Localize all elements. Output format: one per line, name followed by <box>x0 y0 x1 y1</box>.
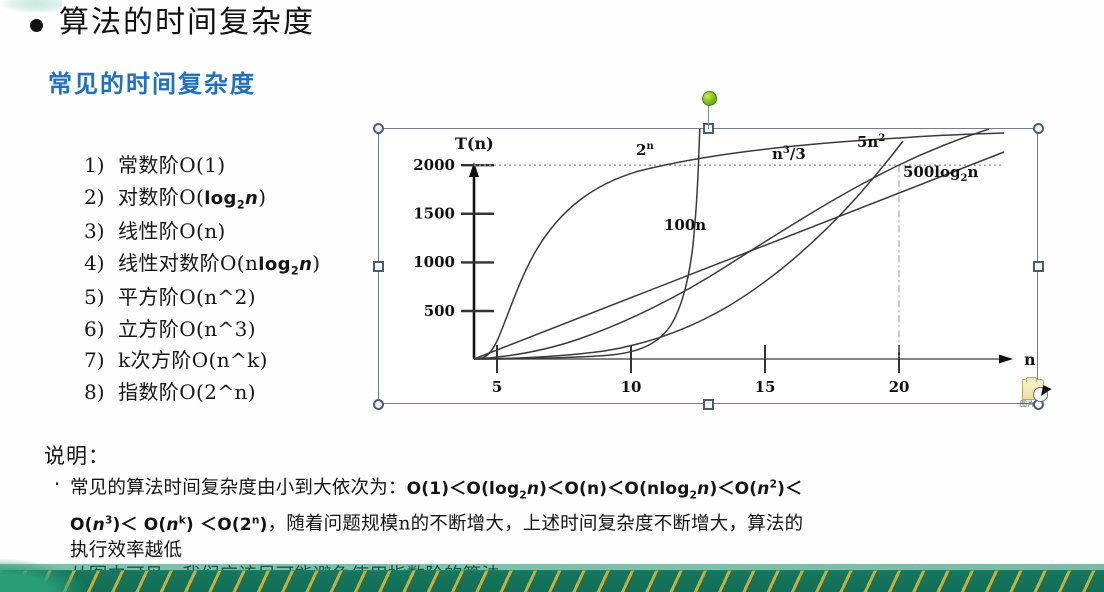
list-item-number: 4) <box>84 250 118 277</box>
list-item-label: k次方阶O(n^k) <box>118 347 268 374</box>
section-subtitle: 常见的时间复杂度 <box>48 64 256 99</box>
list-item-number: 8) <box>84 379 118 406</box>
list-item-label: 常数阶O(1) <box>118 152 226 179</box>
toolbar-stem <box>1037 369 1038 379</box>
note-item: ·常见的算法时间复杂度由小到大依次为：O(1)＜O(log2n)＜O(n)＜O(… <box>44 472 1074 563</box>
chart-y-tick-labels: 2000 1500 1000 500 <box>413 156 455 320</box>
toolbar-caption: 图片 <box>1020 399 1035 409</box>
complexity-list-item: 3)线性阶O(n) <box>84 218 414 245</box>
page-title: 算法的时间复杂度 <box>59 6 315 39</box>
resize-handle-middle-right[interactable] <box>1033 261 1044 272</box>
curve-n3div3 <box>474 141 903 359</box>
svg-text:2000: 2000 <box>413 156 455 174</box>
picture-toolbar-stub[interactable]: 图片 <box>1020 378 1054 408</box>
rotation-handle-stem <box>708 103 709 129</box>
svg-text:10: 10 <box>621 378 642 396</box>
resize-handle-top-left[interactable] <box>373 123 384 134</box>
rotation-handle[interactable] <box>702 91 717 106</box>
complexity-list-item: 5)平方阶O(n^2) <box>84 284 414 311</box>
complexity-list-item: 7)k次方阶O(n^k) <box>84 347 414 374</box>
svg-text:5: 5 <box>492 378 502 396</box>
chart-annotations: 2n 100n n3/3 5n2 500log2n <box>636 133 978 234</box>
footer-left-swoosh <box>0 558 90 592</box>
svg-text:15: 15 <box>755 378 776 396</box>
chart-axes <box>469 162 1013 364</box>
annotation-100n: 100n <box>664 216 706 234</box>
list-item-number: 3) <box>84 218 118 245</box>
svg-text:500: 500 <box>424 302 455 320</box>
list-item-number: 1) <box>84 152 118 179</box>
list-item-label: 对数阶O(log2n) <box>118 184 266 213</box>
annotation-n3div3: n3/3 <box>772 145 806 163</box>
list-item-label: 平方阶O(n^2) <box>118 284 256 311</box>
complexity-list-item: 8)指数阶O(2^n) <box>84 379 414 406</box>
bullet-dot-icon <box>30 19 43 32</box>
resize-handle-middle-left[interactable] <box>373 261 384 272</box>
footer-decoration-bar <box>0 570 1104 592</box>
mouse-pointer-icon <box>1041 385 1052 398</box>
list-item-label: 线性对数阶O(nlog2n) <box>118 250 321 279</box>
slide-title-row: 算法的时间复杂度 <box>30 6 315 39</box>
notes-heading: 说明： <box>44 440 1074 470</box>
complexity-list: 1)常数阶O(1)2)对数阶O(log2n)3)线性阶O(n)4)线性对数阶O(… <box>44 152 414 410</box>
chart-ylabel: T(n) <box>455 134 494 153</box>
chart-svg: 2000 1500 1000 500 5 10 15 20 T(n) n 2n <box>379 129 1039 405</box>
list-item-number: 7) <box>84 347 118 374</box>
resize-handle-top-right[interactable] <box>1033 123 1044 134</box>
list-item-label: 指数阶O(2^n) <box>118 379 256 406</box>
slide-canvas: 算法的时间复杂度 常见的时间复杂度 1)常数阶O(1)2)对数阶O(log2n)… <box>0 0 1104 592</box>
resize-handle-bottom-center[interactable] <box>703 399 714 410</box>
chart-x-tick-labels: 5 10 15 20 <box>492 378 910 396</box>
annotation-5n2: 5n2 <box>857 133 885 151</box>
complexity-list-item: 6)立方阶O(n^3) <box>84 316 414 343</box>
complexity-list-item: 1)常数阶O(1) <box>84 152 414 179</box>
list-item-label: 线性阶O(n) <box>118 218 226 245</box>
list-item-number: 5) <box>84 284 118 311</box>
complexity-growth-chart: 2000 1500 1000 500 5 10 15 20 T(n) n 2n <box>379 129 1039 405</box>
annotation-2n: 2n <box>636 141 654 159</box>
picture-selection-frame[interactable]: 2000 1500 1000 500 5 10 15 20 T(n) n 2n <box>378 128 1038 404</box>
svg-text:20: 20 <box>889 378 910 396</box>
resize-handle-bottom-left[interactable] <box>373 399 384 410</box>
annotation-500log2n: 500log2n <box>903 163 978 184</box>
list-item-label: 立方阶O(n^3) <box>118 316 256 343</box>
chart-y-ticks <box>461 214 494 311</box>
svg-text:1500: 1500 <box>413 205 455 223</box>
curve-2n <box>474 129 700 359</box>
note-bullet-icon: · <box>44 472 70 497</box>
chart-xlabel: n <box>1024 350 1036 369</box>
complexity-list-item: 2)对数阶O(log2n) <box>84 184 414 213</box>
list-item-number: 6) <box>84 316 118 343</box>
note-text: 常见的算法时间复杂度由小到大依次为：O(1)＜O(log2n)＜O(n)＜O(n… <box>70 472 803 563</box>
curve-100n <box>474 152 1004 359</box>
svg-text:1000: 1000 <box>413 253 455 271</box>
complexity-list-item: 4)线性对数阶O(nlog2n) <box>84 250 414 279</box>
list-item-number: 2) <box>84 184 118 211</box>
